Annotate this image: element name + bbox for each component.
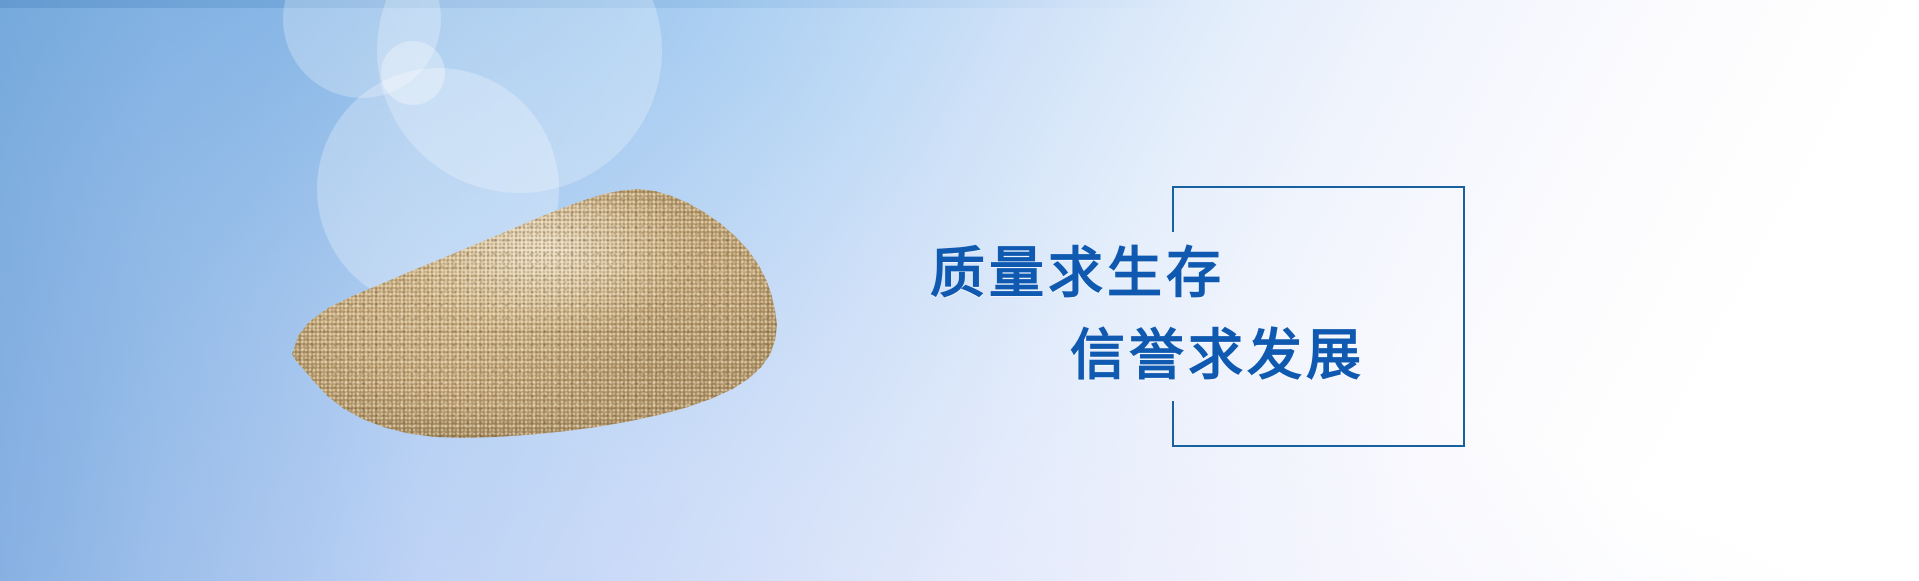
decorative-circle-top-left	[283, 0, 441, 98]
frame-edge-left-lower	[1172, 401, 1174, 447]
sand-grain-texture-fine	[292, 188, 777, 440]
slogan-line-1: 质量求生存	[930, 232, 1490, 314]
decorative-circle-large	[377, 0, 662, 193]
quartz-sand-pile-image	[292, 188, 777, 440]
frame-edge-left-upper	[1172, 186, 1174, 232]
background-top-edge-shade	[0, 0, 1919, 8]
frame-edge-bottom	[1172, 445, 1465, 447]
sand-pile-shape	[292, 188, 777, 440]
slogan-line-2: 信誉求发展	[1070, 314, 1490, 396]
hero-banner: 质量求生存 信誉求发展	[0, 0, 1919, 581]
slogan-block: 质量求生存 信誉求发展	[930, 232, 1490, 396]
decorative-circle-small	[381, 41, 445, 105]
frame-edge-top	[1172, 186, 1465, 188]
sand-grain-texture-coarse	[292, 188, 777, 440]
sand-grain-texture-medium	[292, 188, 777, 440]
